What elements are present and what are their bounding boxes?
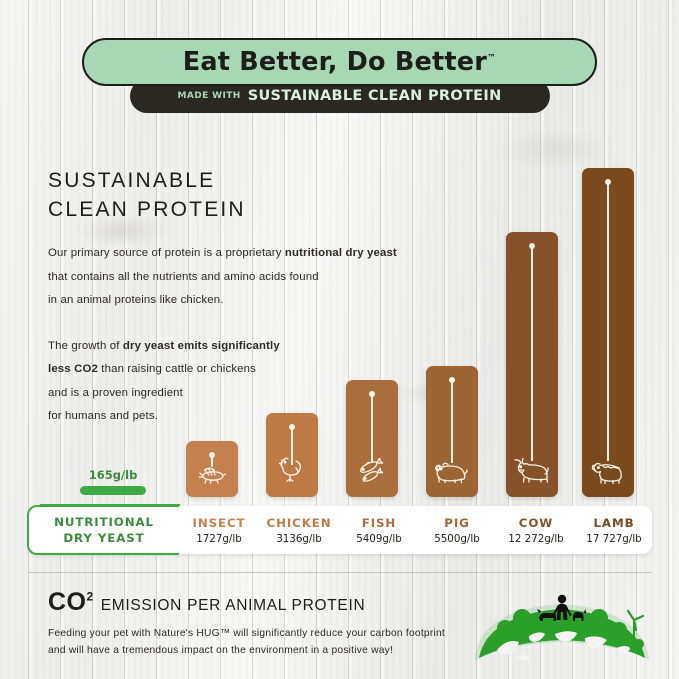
label-value-insect: 1727g/lb	[196, 533, 242, 545]
bar-stem-pig	[451, 380, 453, 463]
page-title-text: Eat Better, Do Better	[183, 47, 487, 77]
bar-cow[interactable]	[506, 232, 558, 497]
bar-insect[interactable]	[186, 441, 238, 497]
subtitle-label: SUSTAINABLE CLEAN PROTEIN	[248, 88, 502, 104]
label-name-chicken: CHICKEN	[267, 516, 332, 530]
label-value-fish: 5409g/lb	[356, 533, 402, 545]
insect-icon	[196, 464, 228, 489]
label-cell-insect[interactable]: INSECT 1727g/lb	[180, 506, 258, 554]
label-name-lamb: LAMB	[594, 516, 635, 530]
title-pill: Eat Better, Do Better™	[82, 38, 597, 86]
green-earth-family-icon	[467, 592, 657, 664]
bar-stem-lamb	[607, 182, 609, 461]
bar-chicken[interactable]	[266, 413, 318, 497]
chart-label-strip: NUTRITIONALDRY YEAST INSECT 1727g/lb CHI…	[28, 506, 652, 554]
bar-pig[interactable]	[426, 366, 478, 497]
yeast-highlight-top-rule	[40, 504, 180, 506]
lamb-icon	[589, 458, 627, 489]
label-value-lamb: 17 727g/lb	[586, 533, 641, 545]
label-name-insect: INSECT	[193, 516, 246, 530]
label-value-pig: 5500g/lb	[434, 533, 480, 545]
co2-word: CO2	[48, 588, 94, 617]
co2-heading-rest: EMISSION PER ANIMAL PROTEIN	[101, 597, 366, 615]
yeast-value-label: 165g/lb	[72, 468, 154, 482]
bar-fish[interactable]	[346, 380, 398, 497]
page-title: Eat Better, Do Better™	[183, 47, 496, 77]
bar-stem-fish	[371, 394, 373, 463]
bar-nutritional-dry-yeast[interactable]	[80, 486, 146, 495]
chicken-icon	[277, 454, 307, 489]
label-value-cow: 12 272g/lb	[508, 533, 563, 545]
label-name-cow: COW	[519, 516, 553, 530]
label-cell-chicken[interactable]: CHICKEN 3136g/lb	[258, 506, 340, 554]
footer-divider	[28, 572, 652, 573]
bar-stem-cow	[531, 246, 533, 461]
co2-word-text: CO	[48, 588, 87, 616]
bar-lamb[interactable]	[582, 168, 634, 497]
label-cell-nutritional-dry-yeast[interactable]: NUTRITIONALDRY YEAST	[28, 506, 180, 554]
label-cell-fish[interactable]: FISH 5409g/lb	[340, 506, 418, 554]
fish-icon	[355, 458, 389, 489]
label-name-yeast: NUTRITIONALDRY YEAST	[54, 514, 154, 546]
label-value-chicken: 3136g/lb	[276, 533, 322, 545]
label-name-fish: FISH	[362, 516, 396, 530]
label-name-pig: PIG	[444, 516, 469, 530]
label-cell-lamb[interactable]: LAMB 17 727g/lb	[576, 506, 652, 554]
made-with-label: MADE WITH	[177, 91, 240, 101]
label-cell-pig[interactable]: PIG 5500g/lb	[418, 506, 496, 554]
trademark-symbol: ™	[487, 54, 496, 64]
cow-icon	[512, 456, 552, 489]
label-cell-cow[interactable]: COW 12 272g/lb	[496, 506, 576, 554]
pig-icon	[433, 458, 471, 489]
co2-superscript: 2	[87, 590, 94, 604]
